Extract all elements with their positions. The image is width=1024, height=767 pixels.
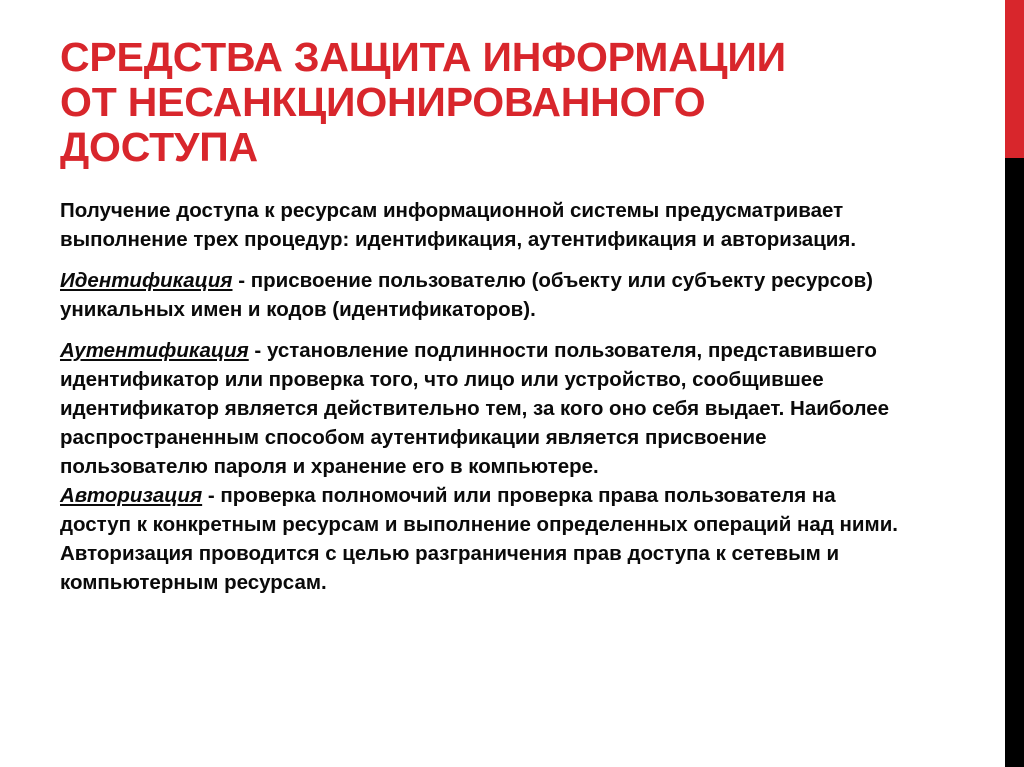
paragraph-authentication: Аутентификация - установление подлинност… (60, 336, 900, 481)
side-accent-bar (1005, 0, 1024, 767)
page-title: СРЕДСТВА ЗАЩИТА ИНФОРМАЦИИ ОТ НЕСАНКЦИОН… (60, 35, 980, 170)
term-authentication: Аутентификация (60, 339, 249, 362)
slide-body-text: Получение доступа к ресурсам информацион… (60, 196, 900, 597)
paragraph-intro: Получение доступа к ресурсам информацион… (60, 196, 900, 254)
paragraph-identification: Идентификация - присвоение пользователю … (60, 266, 900, 324)
paragraph-intro-text: Получение доступа к ресурсам информацион… (60, 199, 856, 251)
side-accent-bar-black-segment (1005, 158, 1024, 767)
paragraph-authorization: Авторизация - проверка полномочий или пр… (60, 481, 900, 597)
side-accent-bar-red-segment (1005, 0, 1024, 158)
slide-canvas: СРЕДСТВА ЗАЩИТА ИНФОРМАЦИИ ОТ НЕСАНКЦИОН… (0, 0, 1006, 767)
term-identification: Идентификация (60, 269, 233, 292)
term-authorization: Авторизация (60, 484, 202, 507)
